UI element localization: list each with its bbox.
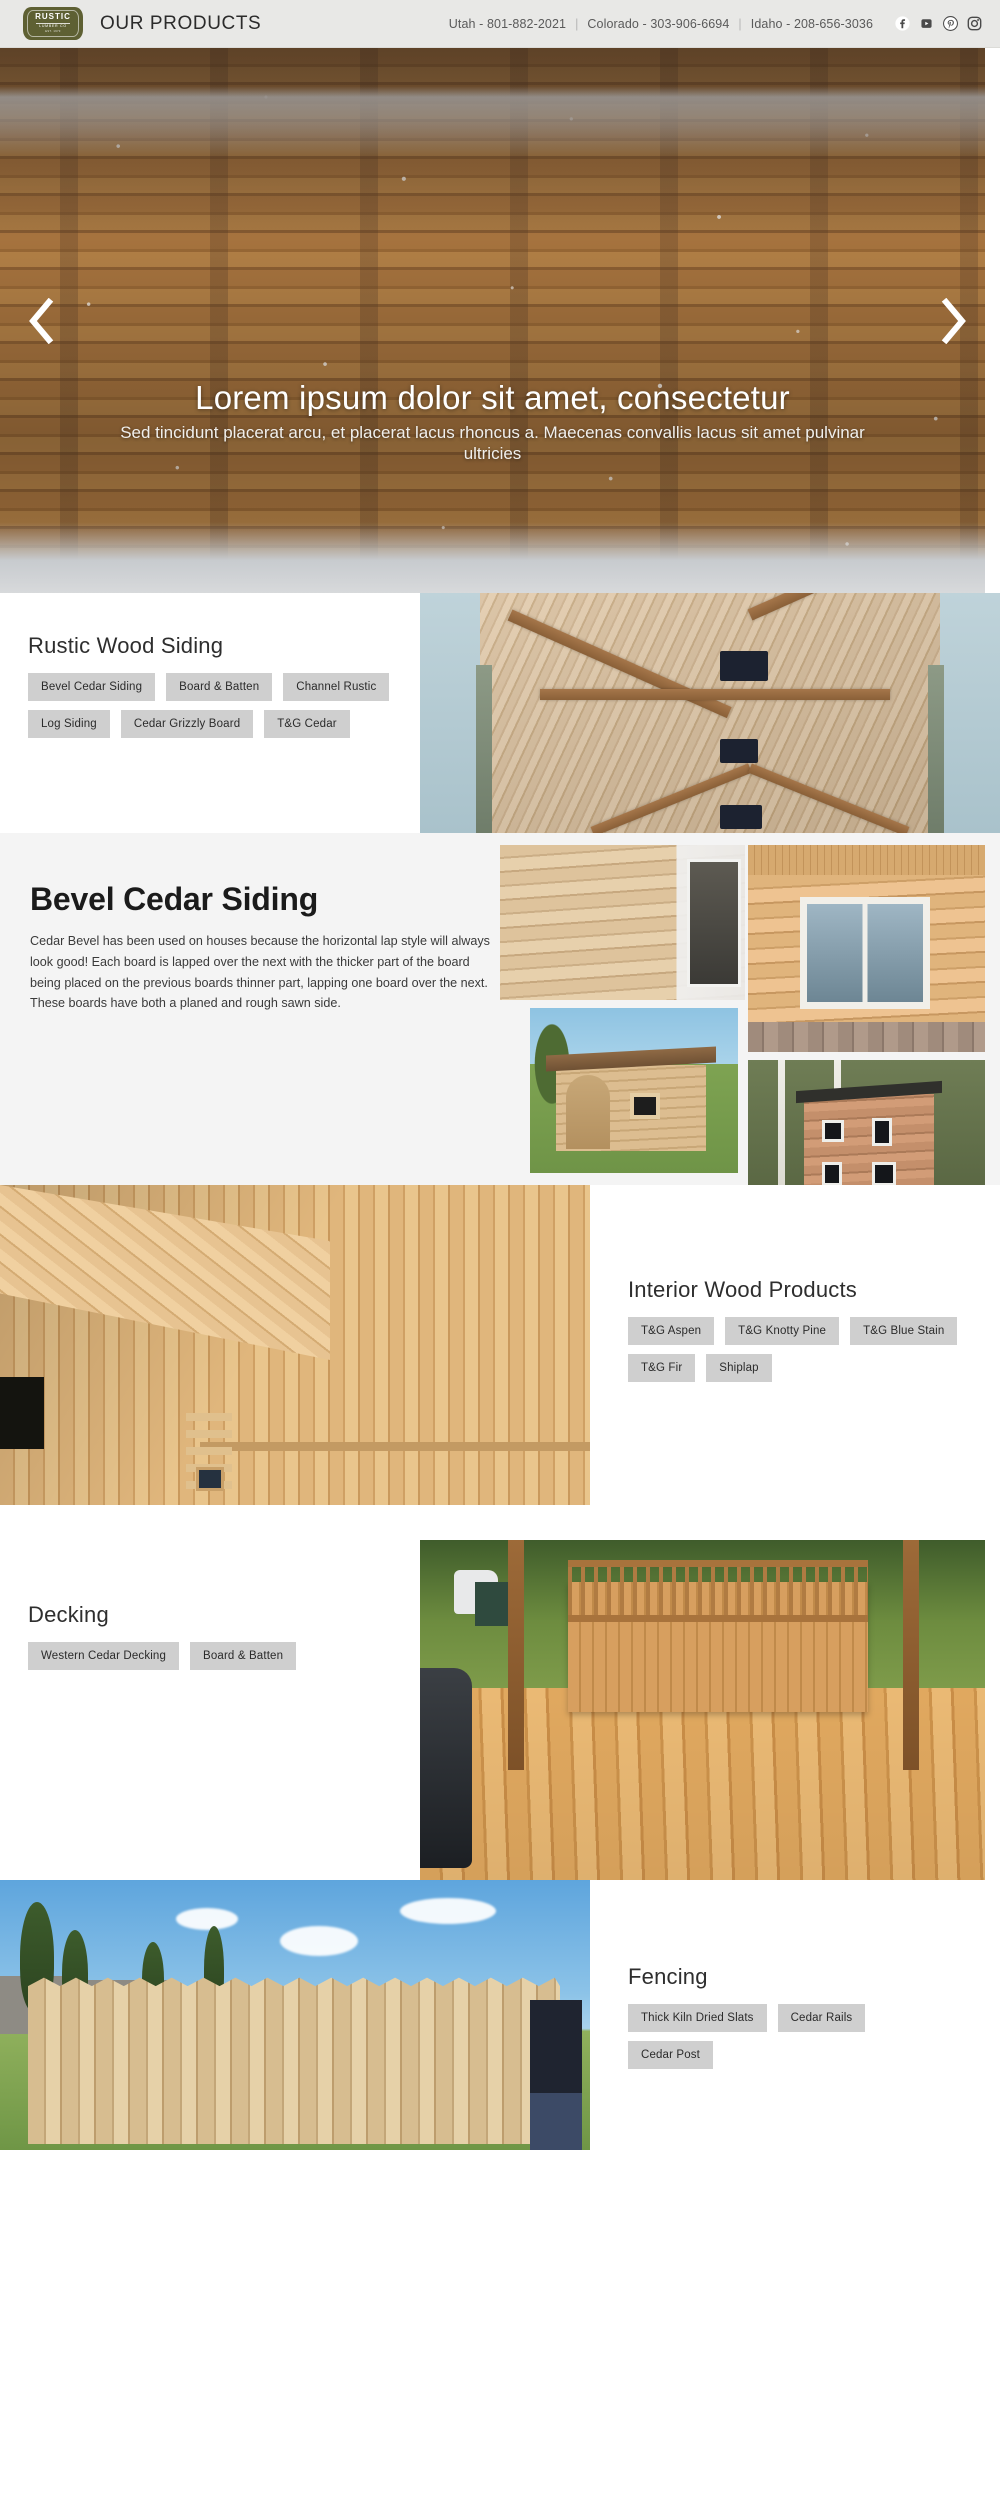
interior-tag-list: T&G Aspen T&G Knotty Pine T&G Blue Stain…: [628, 1317, 958, 1382]
interior-copy: Interior Wood Products T&G Aspen T&G Kno…: [628, 1277, 958, 1382]
fencing-photo-pickets: [28, 1976, 560, 2144]
page-root: RUSTIC LUMBER CO EST. 1973 OUR PRODUCTS …: [0, 0, 1000, 2500]
bevel-photo-planks: [500, 845, 745, 1000]
decking-photo-grill: [420, 1668, 472, 1868]
decking-section-title: Decking: [28, 1602, 408, 1628]
chevron-left-icon: [27, 298, 55, 344]
interior-photo: [0, 1185, 590, 1505]
rustic-section-title: Rustic Wood Siding: [28, 633, 418, 659]
logo-shield-icon: RUSTIC LUMBER CO EST. 1973: [23, 7, 83, 40]
rustic-tag-list: Bevel Cedar Siding Board & Batten Channe…: [28, 673, 418, 738]
section-rustic-wood-siding: Rustic Wood Siding Bevel Cedar Siding Bo…: [0, 593, 1000, 833]
interior-photo-ceiling: [0, 1185, 330, 1360]
decking-photo: [420, 1540, 985, 1880]
truss-plate-low: [720, 805, 762, 829]
bevel-photo-stone-base: [748, 1022, 985, 1052]
truss-beam-2: [748, 593, 972, 620]
hero-caption: Lorem ipsum dolor sit amet, consectetur …: [0, 378, 985, 464]
truss-beam-1: [508, 610, 732, 719]
truss-sky-left: [420, 593, 480, 833]
bevel-photo-planks-door: [687, 859, 741, 987]
hero-title: Lorem ipsum dolor sit amet, consectetur: [90, 378, 895, 418]
hero-subtitle: Sed tincidunt placerat arcu, et placerat…: [90, 422, 895, 465]
tag-thick-kiln-dried-slats[interactable]: Thick Kiln Dried Slats: [628, 2004, 767, 2032]
fencing-section-title: Fencing: [628, 1964, 958, 1990]
decking-photo-post-left: [508, 1540, 524, 1770]
phone-idaho[interactable]: Idaho - 208-656-3036: [751, 17, 873, 31]
fencing-photo-cloud-2: [176, 1908, 238, 1930]
bevel-photo-shed-door: [566, 1075, 610, 1149]
logo-line-2: LUMBER CO: [39, 25, 67, 29]
tag-tg-aspen[interactable]: T&G Aspen: [628, 1317, 714, 1345]
section-decking: Decking Western Cedar Decking Board & Ba…: [0, 1540, 1000, 1880]
tag-western-cedar-decking[interactable]: Western Cedar Decking: [28, 1642, 179, 1670]
bevel-photo-collage: [0, 833, 1000, 1185]
logo-line-3: EST. 1973: [45, 31, 61, 34]
hero-overlay: [0, 48, 985, 593]
chevron-right-icon: [940, 298, 968, 344]
tag-channel-rustic[interactable]: Channel Rustic: [283, 673, 389, 701]
tag-tg-knotty-pine[interactable]: T&G Knotty Pine: [725, 1317, 839, 1345]
pinterest-icon[interactable]: [943, 16, 958, 31]
phone-list: Utah - 801-882-2021 | Colorado - 303-906…: [449, 17, 873, 31]
truss-tie-beam: [540, 689, 890, 700]
tag-cedar-post[interactable]: Cedar Post: [628, 2041, 713, 2069]
instagram-icon[interactable]: [967, 16, 982, 31]
tag-bevel-cedar-siding[interactable]: Bevel Cedar Siding: [28, 673, 155, 701]
tag-tg-blue-stain[interactable]: T&G Blue Stain: [850, 1317, 957, 1345]
tag-decking-board-and-batten[interactable]: Board & Batten: [190, 1642, 296, 1670]
fencing-photo-cloud-3: [400, 1898, 496, 1924]
page-title: OUR PRODUCTS: [100, 13, 261, 35]
social-links: [895, 16, 982, 31]
fencing-photo-person: [530, 2000, 582, 2150]
phone-colorado[interactable]: Colorado - 303-906-6694: [587, 17, 729, 31]
bevel-photo-window: [800, 897, 930, 1009]
youtube-icon[interactable]: [919, 16, 934, 31]
decking-photo-post-right: [903, 1540, 919, 1770]
section-interior-wood-products: Interior Wood Products T&G Aspen T&G Kno…: [0, 1185, 1000, 1540]
interior-section-title: Interior Wood Products: [628, 1277, 958, 1303]
bevel-photo-cabin-window-2: [872, 1118, 892, 1146]
bevel-photo-cabin-window-4: [872, 1162, 896, 1186]
decking-tag-list: Western Cedar Decking Board & Batten: [28, 1642, 408, 1670]
decking-photo-railing: [568, 1560, 868, 1622]
fencing-tag-list: Thick Kiln Dried Slats Cedar Rails Cedar…: [628, 2004, 958, 2069]
rustic-copy: Rustic Wood Siding Bevel Cedar Siding Bo…: [28, 633, 418, 738]
truss-plate-mid: [720, 739, 758, 763]
interior-photo-picture-frame: [196, 1467, 224, 1491]
bevel-photo-cabin-window-3: [822, 1162, 842, 1186]
fencing-photo-cloud-1: [280, 1926, 358, 1956]
tag-cedar-rails[interactable]: Cedar Rails: [778, 2004, 866, 2032]
phone-separator-1: |: [575, 17, 578, 31]
bevel-photo-shed: [530, 1008, 738, 1173]
truss-post-left: [476, 665, 492, 833]
bevel-photo-window-wall: [748, 845, 985, 1052]
hero-slider: Lorem ipsum dolor sit amet, consectetur …: [0, 48, 985, 593]
logo-line-1: RUSTIC: [35, 13, 71, 21]
section-bevel-cedar-siding: Bevel Cedar Siding Cedar Bevel has been …: [0, 833, 1000, 1185]
truss-post-right: [928, 665, 944, 833]
rustic-truss-photo: [420, 593, 1000, 833]
phone-separator-2: |: [738, 17, 741, 31]
hero-next-button[interactable]: [931, 293, 977, 349]
decking-copy: Decking Western Cedar Decking Board & Ba…: [28, 1602, 408, 1670]
truss-plate-top: [720, 651, 768, 681]
truss-sky-right: [940, 593, 1000, 833]
facebook-icon[interactable]: [895, 16, 910, 31]
bevel-photo-cabin-window-1: [822, 1120, 844, 1142]
interior-photo-rail: [200, 1442, 590, 1451]
site-logo[interactable]: RUSTIC LUMBER CO EST. 1973: [22, 7, 84, 41]
bevel-photo-shed-window: [630, 1093, 660, 1119]
fencing-photo: [0, 1880, 590, 2150]
truss-brace-2: [748, 763, 909, 833]
tag-shiplap[interactable]: Shiplap: [706, 1354, 771, 1382]
fencing-copy: Fencing Thick Kiln Dried Slats Cedar Rai…: [628, 1964, 958, 2069]
tag-tg-fir[interactable]: T&G Fir: [628, 1354, 695, 1382]
tag-log-siding[interactable]: Log Siding: [28, 710, 110, 738]
site-header: RUSTIC LUMBER CO EST. 1973 OUR PRODUCTS …: [0, 0, 1000, 48]
phone-utah[interactable]: Utah - 801-882-2021: [449, 17, 566, 31]
tag-tg-cedar[interactable]: T&G Cedar: [264, 710, 350, 738]
bevel-photo-soffit: [748, 845, 985, 875]
hero-prev-button[interactable]: [18, 293, 64, 349]
tag-cedar-grizzly-board[interactable]: Cedar Grizzly Board: [121, 710, 253, 738]
section-fencing: Fencing Thick Kiln Dried Slats Cedar Rai…: [0, 1880, 1000, 2180]
header-contact-bar: Utah - 801-882-2021 | Colorado - 303-906…: [449, 16, 982, 31]
tag-board-and-batten[interactable]: Board & Batten: [166, 673, 272, 701]
interior-photo-tv: [0, 1377, 44, 1449]
